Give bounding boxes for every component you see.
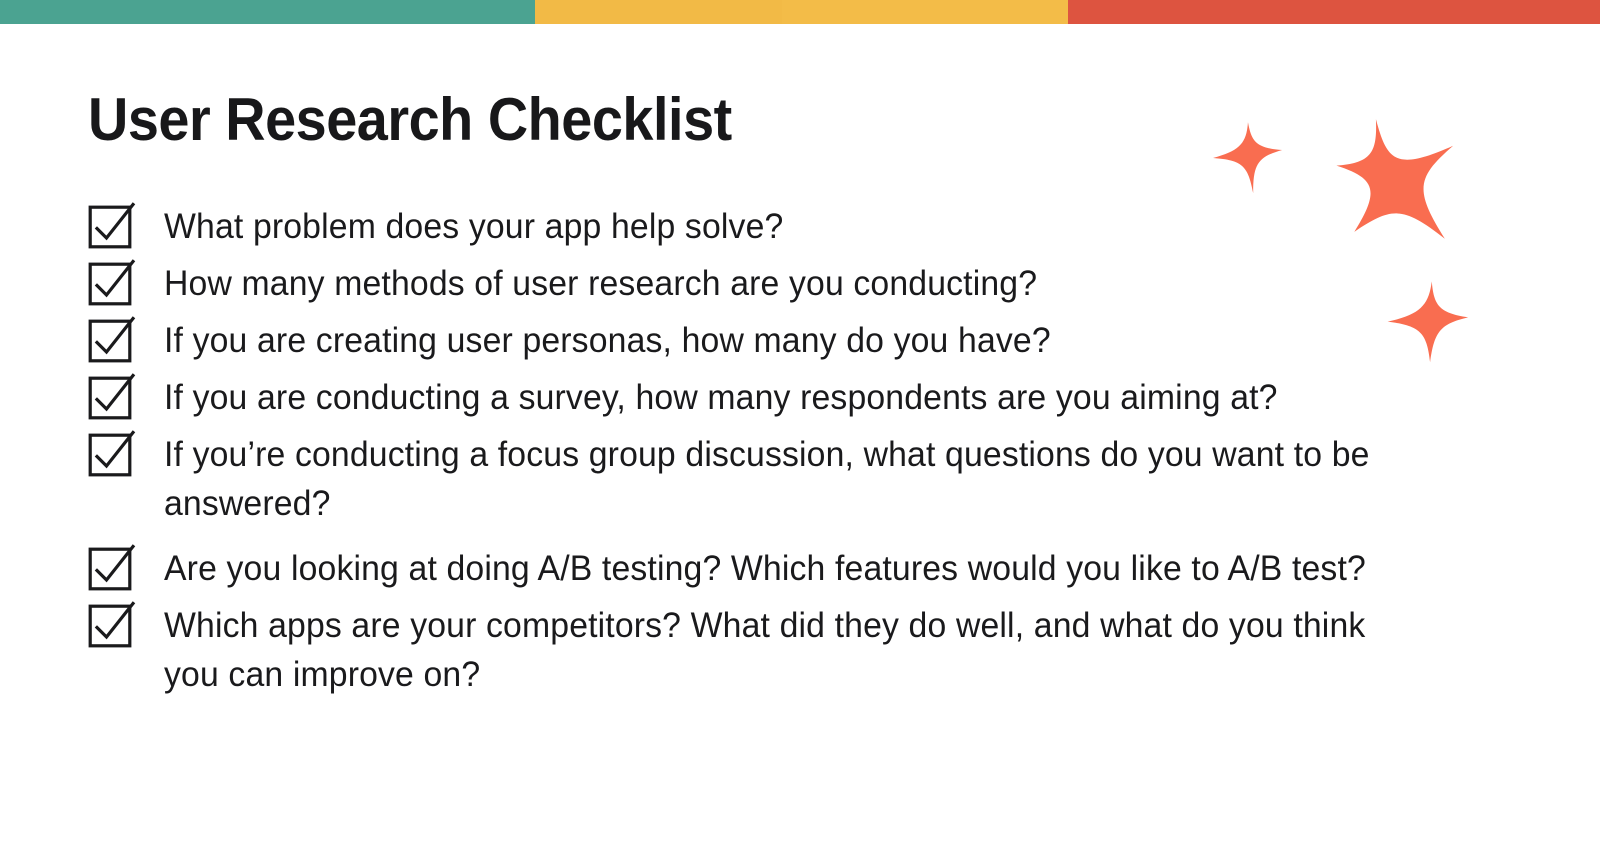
yellow-segment-a <box>535 0 782 24</box>
checklist-item-label: How many methods of user research are yo… <box>164 259 1037 308</box>
yellow-segment-b <box>782 0 1068 24</box>
checklist-item-label: If you are creating user personas, how m… <box>164 316 1051 365</box>
page-title: User Research Checklist <box>88 88 732 152</box>
checklist-item-label: If you are conducting a survey, how many… <box>164 373 1278 422</box>
checklist-item[interactable]: How many methods of user research are yo… <box>88 259 1418 308</box>
decorative-color-bar <box>0 0 1600 24</box>
checklist: What problem does your app help solve?Ho… <box>88 202 1418 715</box>
checkbox-checked-icon[interactable] <box>88 376 132 420</box>
checklist-item[interactable]: Which apps are your competitors? What di… <box>88 601 1418 699</box>
four-point-star-icon <box>1211 121 1285 195</box>
checklist-item[interactable]: What problem does your app help solve? <box>88 202 1418 251</box>
checklist-item-label: If you’re conducting a focus group discu… <box>164 430 1374 528</box>
four-point-star-icon <box>1386 280 1470 364</box>
red-segment <box>1068 0 1600 24</box>
checkbox-checked-icon[interactable] <box>88 205 132 249</box>
checklist-item-label: What problem does your app help solve? <box>164 202 783 251</box>
checklist-item[interactable]: If you are conducting a survey, how many… <box>88 373 1418 422</box>
checklist-item-label: Which apps are your competitors? What di… <box>164 601 1374 699</box>
slide-canvas: User Research Checklist What problem doe… <box>0 24 1600 862</box>
checklist-item[interactable]: If you’re conducting a focus group discu… <box>88 430 1418 528</box>
checkbox-checked-icon[interactable] <box>88 547 132 591</box>
checklist-item[interactable]: Are you looking at doing A/B testing? Wh… <box>88 544 1418 593</box>
teal-segment <box>0 0 535 24</box>
checkbox-checked-icon[interactable] <box>88 262 132 306</box>
checklist-item[interactable]: If you are creating user personas, how m… <box>88 316 1418 365</box>
checklist-item-label: Are you looking at doing A/B testing? Wh… <box>164 544 1366 593</box>
checkbox-checked-icon[interactable] <box>88 604 132 648</box>
checkbox-checked-icon[interactable] <box>88 433 132 477</box>
four-point-star-icon <box>1326 116 1462 242</box>
checkbox-checked-icon[interactable] <box>88 319 132 363</box>
